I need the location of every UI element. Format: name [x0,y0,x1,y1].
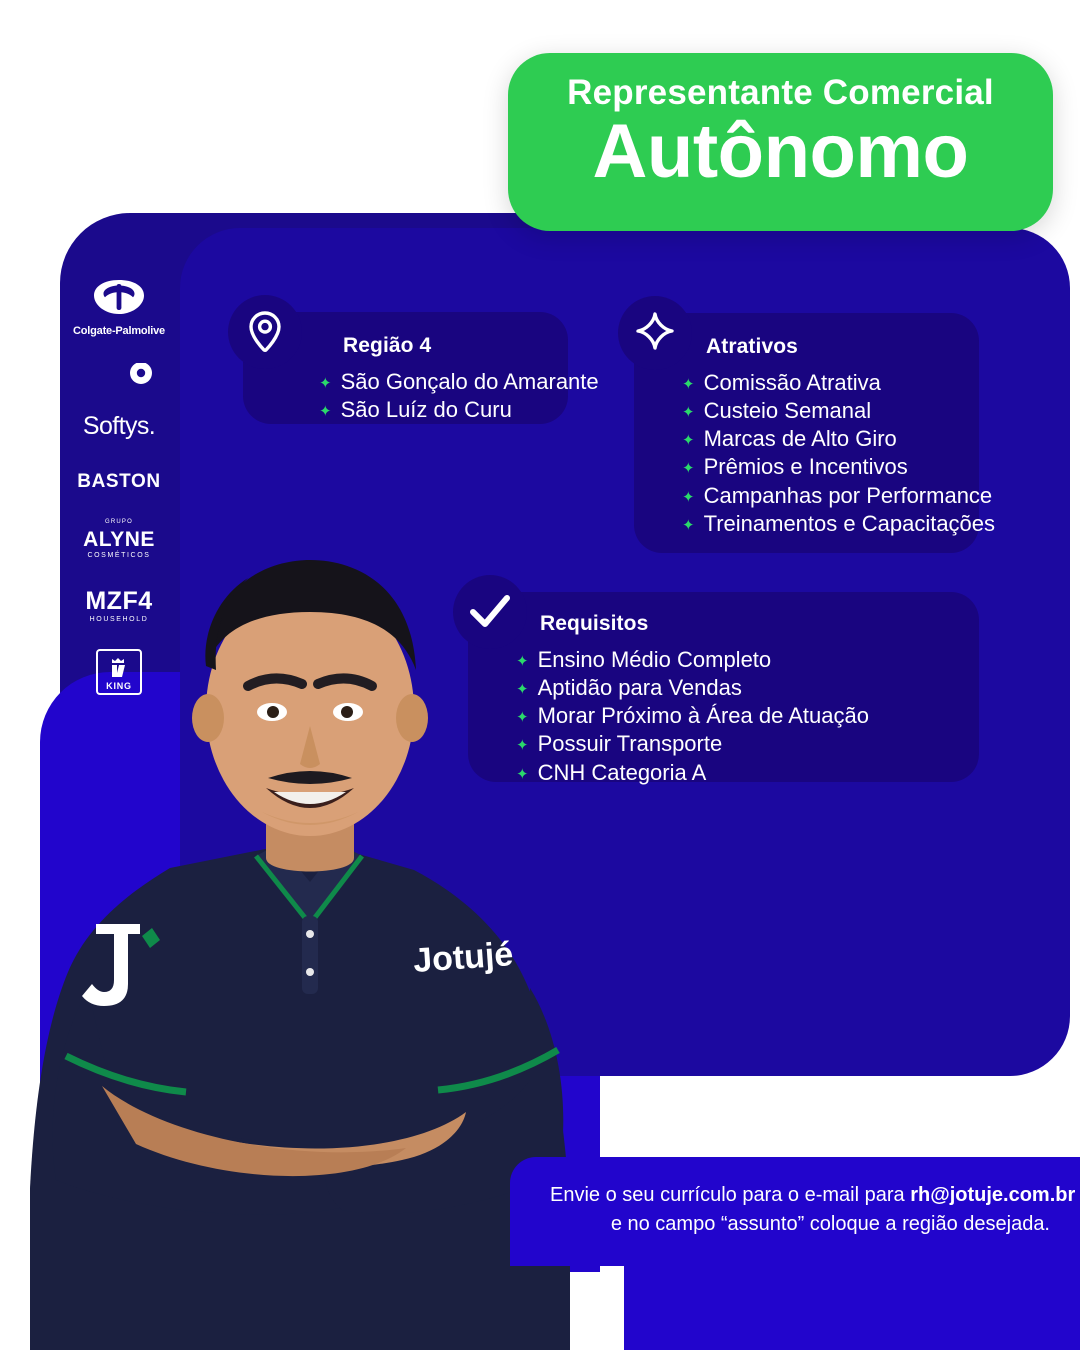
location-pin-icon [228,295,302,369]
card-atrativos-list: ✦ Comissão Atrativa ✦ Custeio Semanal ✦ … [682,369,955,538]
shirt-wordmark: Jotujé [412,935,515,980]
brand-logo-label: Colgate-Palmolive [73,325,165,337]
brand-logo-label: BASTON [77,471,160,493]
list-item: ✦ Treinamentos e Capacitações [682,510,955,538]
list-item: ✦ São Luíz do Curu [319,396,542,424]
job-title-badge: Representante Comercial Autônomo [508,53,1053,231]
diamond-bullet-icon: ✦ [319,404,332,419]
list-item-label: Prêmios e Incentivos [704,453,908,481]
list-item: ✦ Campanhas por Performance [682,482,955,510]
diamond-bullet-icon: ✦ [682,433,695,448]
list-item: ✦ Custeio Semanal [682,397,955,425]
card-atrativos-title: Atrativos [706,335,798,359]
softys-dot-icon [79,363,159,408]
brand-logo-label: Softys. [83,412,155,441]
diamond-bullet-icon: ✦ [319,376,332,391]
list-item: ✦ São Gonçalo do Amarante [319,368,542,396]
list-item-label: São Gonçalo do Amarante [341,368,599,396]
poster-root: Representante Comercial Autônomo Colgate… [0,0,1080,1350]
brand-logo-baston: BASTON [63,467,175,493]
diamond-bullet-icon: ✦ [682,377,695,392]
card-atrativos-header: Atrativos [682,327,955,367]
sparkle-star-icon [618,296,692,370]
brand-logo-softys: Softys. [63,363,175,441]
brand-logo-colgate-palmolive: Colgate-Palmolive [63,278,175,337]
job-title-eyebrow: Representante Comercial [542,75,1019,112]
list-item-label: Comissão Atrativa [704,369,881,397]
footer-contact-bar: Envie o seu currículo para o e-mail para… [510,1157,1080,1266]
footer-bar-extension [624,1266,1080,1350]
list-item: ✦ Comissão Atrativa [682,369,955,397]
diamond-bullet-icon: ✦ [682,405,695,420]
list-item-label: São Luíz do Curu [341,396,512,424]
footer-line-1-prefix: Envie o seu currículo para o e-mail para [550,1184,910,1206]
list-item: ✦ Prêmios e Incentivos [682,453,955,481]
job-title-main: Autônomo [542,114,1019,190]
footer-line-2: e no campo “assunto” coloque a região de… [550,1210,1050,1239]
diamond-bullet-icon: ✦ [682,518,695,533]
list-item-label: Marcas de Alto Giro [704,425,897,453]
svg-text:Jotujé: Jotujé [412,935,515,980]
card-regiao-list: ✦ São Gonçalo do Amarante ✦ São Luíz do … [319,368,542,424]
card-regiao-title: Região 4 [343,334,431,358]
list-item-label: Treinamentos e Capacitações [704,510,995,538]
contact-email[interactable]: rh@jotuje.com.br [910,1184,1075,1206]
colgate-mark-icon [91,278,147,321]
diamond-bullet-icon: ✦ [682,490,695,505]
diamond-bullet-icon: ✦ [682,461,695,476]
list-item: ✦ Marcas de Alto Giro [682,425,955,453]
list-item-label: Custeio Semanal [704,397,872,425]
card-regiao-header: Região 4 [319,326,542,366]
footer-line-1: Envie o seu currículo para o e-mail para… [550,1181,1050,1210]
list-item-label: Campanhas por Performance [704,482,993,510]
